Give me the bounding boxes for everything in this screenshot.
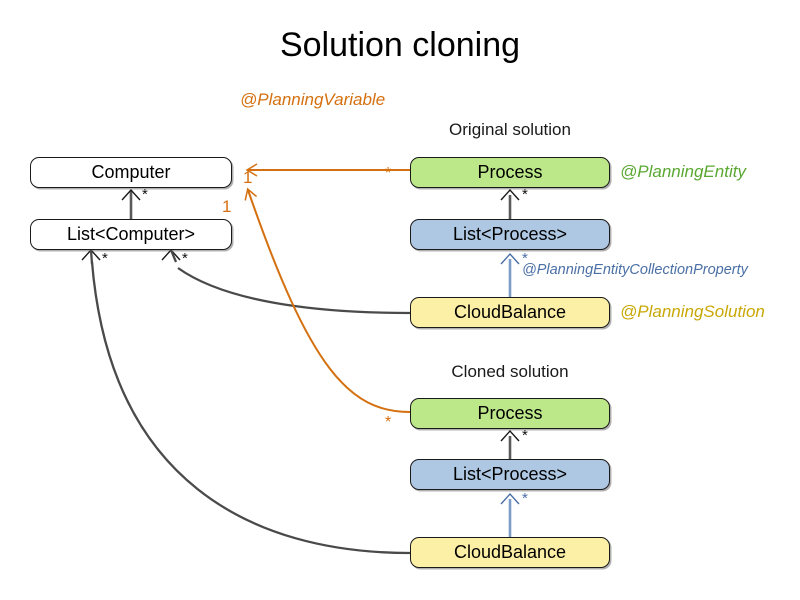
edge-cloudbalance-cloned-to-listcomputer xyxy=(82,250,410,553)
page-title: Solution cloning xyxy=(0,26,800,65)
node-cloudbalance-original[interactable]: CloudBalance xyxy=(410,297,610,328)
node-list-process-cloned[interactable]: List<Process> xyxy=(410,459,610,490)
multiplicity-list-computer-right-star: * xyxy=(182,250,188,267)
edge-cloudbalance-original-to-listcomputer xyxy=(162,250,410,313)
multiplicity-process-cloned-star: * xyxy=(385,414,391,432)
node-cloudbalance-cloned[interactable]: CloudBalance xyxy=(410,537,610,568)
multiplicity-computer-to-process-cloned: 1 xyxy=(222,197,231,217)
node-list-process-original[interactable]: List<Process> xyxy=(410,219,610,250)
multiplicity-process-from-list-original: * xyxy=(522,186,528,203)
node-process-original[interactable]: Process xyxy=(410,157,610,188)
edge-listprocess-to-process-cloned xyxy=(501,431,519,459)
edge-process-cloned-to-computer-planningvariable xyxy=(248,190,410,412)
node-process-cloned[interactable]: Process xyxy=(410,398,610,429)
edge-cloudbalance-to-listprocess-original xyxy=(501,254,519,297)
section-label-original-solution: Original solution xyxy=(437,120,583,140)
multiplicity-list-computer-left-star: * xyxy=(102,250,108,267)
node-list-computer[interactable]: List<Computer> xyxy=(30,219,232,250)
annotation-planning-entity-collection-property: @PlanningEntityCollectionProperty xyxy=(522,262,748,278)
edge-cloudbalance-to-listprocess-cloned xyxy=(501,494,519,537)
multiplicity-computer-to-process-original: 1 xyxy=(243,168,252,188)
node-computer[interactable]: Computer xyxy=(30,157,232,188)
annotation-planning-solution: @PlanningSolution xyxy=(620,302,765,322)
edge-listprocess-to-process-original xyxy=(501,190,519,219)
multiplicity-list-process-from-cb-original: * xyxy=(522,250,528,267)
edge-listcomputer-to-computer xyxy=(122,190,140,219)
multiplicity-process-original-star: * xyxy=(385,165,391,183)
multiplicity-list-process-from-cb-cloned: * xyxy=(522,490,528,507)
section-label-cloned-solution: Cloned solution xyxy=(437,362,583,382)
annotation-planning-entity: @PlanningEntity xyxy=(620,162,746,182)
annotation-planning-variable: @PlanningVariable xyxy=(240,90,385,110)
multiplicity-process-from-list-cloned: * xyxy=(522,427,528,444)
multiplicity-computer-from-list: * xyxy=(142,186,148,203)
diagram-canvas xyxy=(0,0,800,600)
